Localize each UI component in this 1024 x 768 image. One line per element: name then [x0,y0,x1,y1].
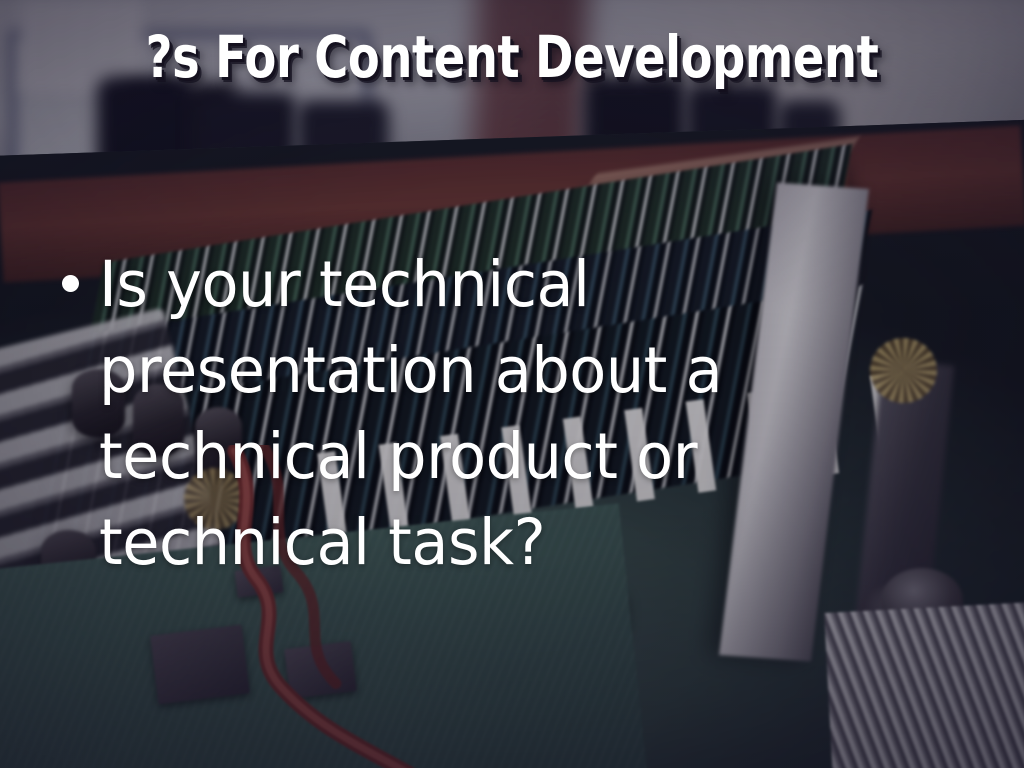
slide-title: ?s For Content Development [102,28,921,86]
bullet-marker-icon [62,275,79,292]
bullet-list: Is your technical presentation about a t… [62,242,962,586]
presentation-slide: ?s For Content Development Is your techn… [0,0,1024,768]
bullet-item-text: Is your technical presentation about a t… [99,242,927,586]
